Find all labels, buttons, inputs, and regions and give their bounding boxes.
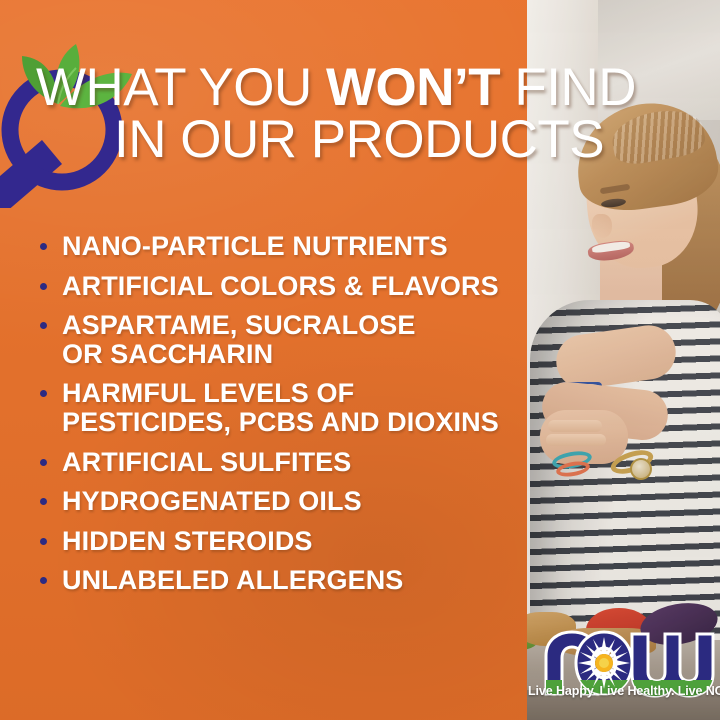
list-item: ASPARTAME, SUCRALOSE OR SACCHARIN <box>38 311 518 368</box>
headline-emphasis: WON’T <box>326 58 500 117</box>
list-item-line: ARTIFICIAL COLORS & FLAVORS <box>62 272 518 301</box>
bullet-dot-icon <box>40 322 47 329</box>
bullet-dot-icon <box>40 498 47 505</box>
list-item: ARTIFICIAL SULFITES <box>38 448 518 477</box>
list-item: UNLABELED ALLERGENS <box>38 566 518 595</box>
list-item: HYDROGENATED OILS <box>38 487 518 516</box>
list-item-line: HYDROGENATED OILS <box>62 487 518 516</box>
list-item-line: ARTIFICIAL SULFITES <box>62 448 518 477</box>
bullet-dot-icon <box>40 538 47 545</box>
bullet-dot-icon <box>40 243 47 250</box>
headline-line2: IN OUR PRODUCTS <box>36 114 708 166</box>
list-item: ARTIFICIAL COLORS & FLAVORS <box>38 272 518 301</box>
list-item-line: PESTICIDES, PCBS AND DIOXINS <box>62 408 518 437</box>
bullet-dot-icon <box>40 390 47 397</box>
page-title: WHAT YOU WON’T FIND IN OUR PRODUCTS <box>36 62 708 167</box>
list-item-line: OR SACCHARIN <box>62 340 518 369</box>
list-item-line: HARMFUL LEVELS OF <box>62 379 518 408</box>
list-item-line: HIDDEN STEROIDS <box>62 527 518 556</box>
list-item-line: UNLABELED ALLERGENS <box>62 566 518 595</box>
bullet-dot-icon <box>40 459 47 466</box>
bullet-dot-icon <box>40 577 47 584</box>
headline-suffix: FIND <box>500 58 636 117</box>
list-item-line: NANO-PARTICLE NUTRIENTS <box>62 232 518 261</box>
list-item: HARMFUL LEVELS OF PESTICIDES, PCBS AND D… <box>38 379 518 436</box>
excluded-ingredients-list: NANO-PARTICLE NUTRIENTS ARTIFICIAL COLOR… <box>38 232 518 606</box>
list-item: NANO-PARTICLE NUTRIENTS <box>38 232 518 261</box>
list-item-line: ASPARTAME, SUCRALOSE <box>62 311 518 340</box>
list-item: HIDDEN STEROIDS <box>38 527 518 556</box>
infographic-canvas: WHAT YOU WON’T FIND IN OUR PRODUCTS NANO… <box>0 0 720 720</box>
headline-prefix: WHAT YOU <box>36 58 326 117</box>
bullet-dot-icon <box>40 283 47 290</box>
brand-tagline: Live Happy. Live Healthy. Live NOW. <box>528 684 720 698</box>
